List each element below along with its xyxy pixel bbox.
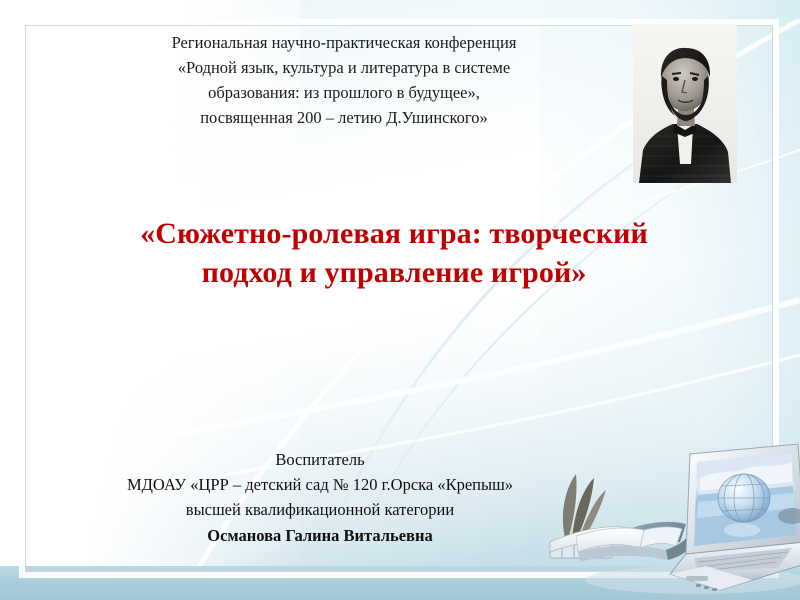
- title-line-1: «Сюжетно-ролевая игра: творческий: [72, 214, 716, 253]
- portrait-engraving: [633, 24, 737, 183]
- author-name: Османова Галина Витальевна: [60, 523, 580, 548]
- author-organisation: МДОАУ «ЦРР – детский сад № 120 г.Орска «…: [60, 472, 580, 497]
- author-role: Воспитатель: [60, 447, 580, 472]
- slide-main-title: «Сюжетно-ролевая игра: творческий подход…: [72, 214, 716, 292]
- ushinsky-portrait-image: [633, 24, 737, 183]
- conference-heading: Региональная научно-практическая конфере…: [84, 30, 604, 130]
- conference-line-3: образования: из прошлого в будущее»,: [84, 80, 604, 105]
- conference-line-4: посвященная 200 – летию Д.Ушинского»: [84, 105, 604, 130]
- author-credits: Воспитатель МДОАУ «ЦРР – детский сад № 1…: [60, 447, 580, 548]
- author-qualification: высшей квалификационной категории: [60, 497, 580, 522]
- background-bottom-band: [0, 566, 800, 600]
- presentation-slide: Региональная научно-практическая конфере…: [0, 0, 800, 600]
- title-line-2: подход и управление игрой»: [72, 253, 716, 292]
- conference-line-1: Региональная научно-практическая конфере…: [84, 30, 604, 55]
- conference-line-2: «Родной язык, культура и литература в си…: [84, 55, 604, 80]
